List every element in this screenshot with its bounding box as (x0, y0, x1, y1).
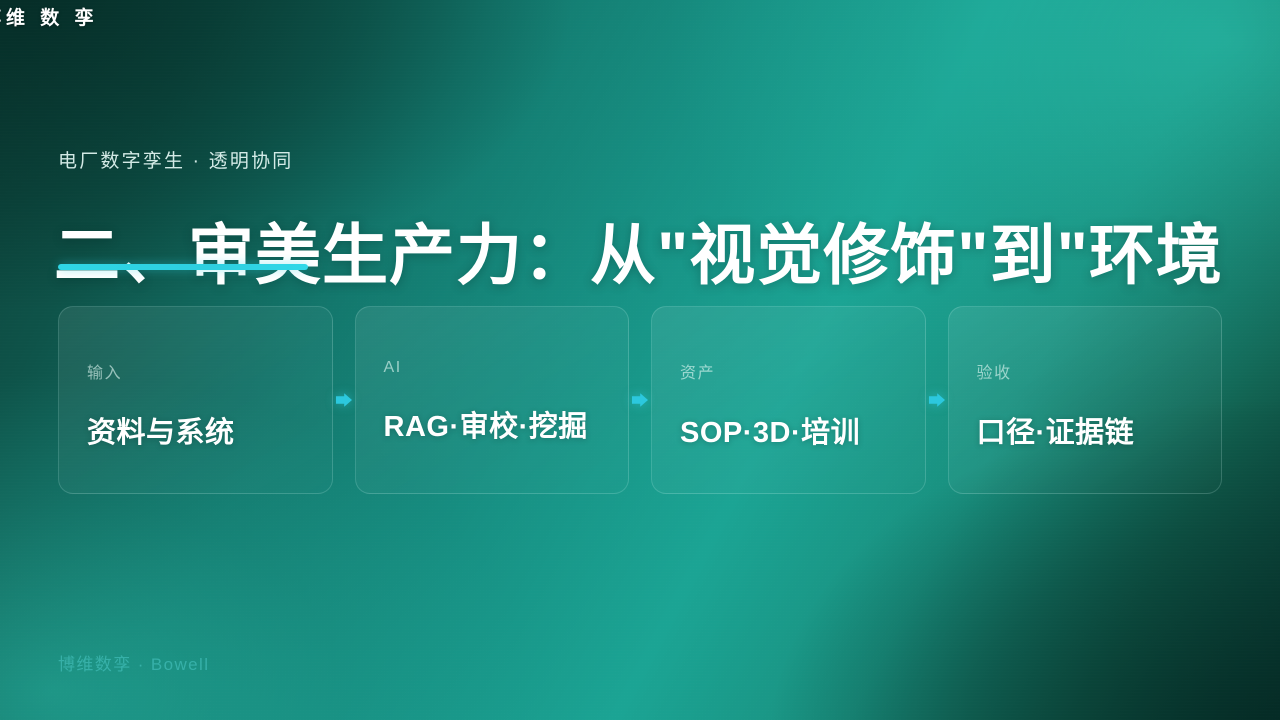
pipeline-card-2[interactable]: AI RAG·审校·挖掘 (355, 306, 630, 494)
pipeline-connector-1 (333, 306, 355, 494)
pipeline-card-3[interactable]: 资产 SOP·3D·培训 (651, 306, 926, 494)
arrow-right-icon (631, 391, 649, 409)
arrow-right-icon (928, 391, 946, 409)
page-title: 二、审美生产力：从"视觉修饰"到"环境 (54, 222, 1223, 288)
slide-eyebrow: 电厂数字孪生 · 透明协同 (58, 146, 294, 173)
pipeline-card-label: AI (384, 359, 629, 377)
pipeline-card-title: 口径·证据链 (977, 409, 1222, 451)
pipeline-card-label: 资产 (680, 359, 925, 383)
pipeline-card-title: RAG·审校·挖掘 (384, 403, 629, 445)
slide-canvas: 博维 数 孪 电厂数字孪生 · 透明协同 二、审美生产力：从"视觉修饰"到"环境… (0, 0, 1280, 720)
title-accent-rule (58, 264, 308, 270)
slide-footer-brand: 博维数孪 · Bowell (58, 650, 209, 675)
brand-wordmark: 博维 数 孪 (0, 3, 99, 30)
pipeline-card-label: 输入 (87, 359, 332, 383)
pipeline-flow: 输入 资料与系统 AI RAG·审校·挖掘 资产 SOP·3D·培训 (58, 306, 1222, 494)
arrow-right-icon (335, 391, 353, 409)
pipeline-connector-3 (926, 306, 948, 494)
pipeline-connector-2 (629, 306, 651, 494)
pipeline-card-title: SOP·3D·培训 (680, 409, 925, 451)
pipeline-card-4[interactable]: 验收 口径·证据链 (948, 306, 1223, 494)
pipeline-card-1[interactable]: 输入 资料与系统 (58, 306, 333, 494)
pipeline-card-label: 验收 (977, 359, 1222, 383)
pipeline-card-title: 资料与系统 (87, 409, 332, 451)
